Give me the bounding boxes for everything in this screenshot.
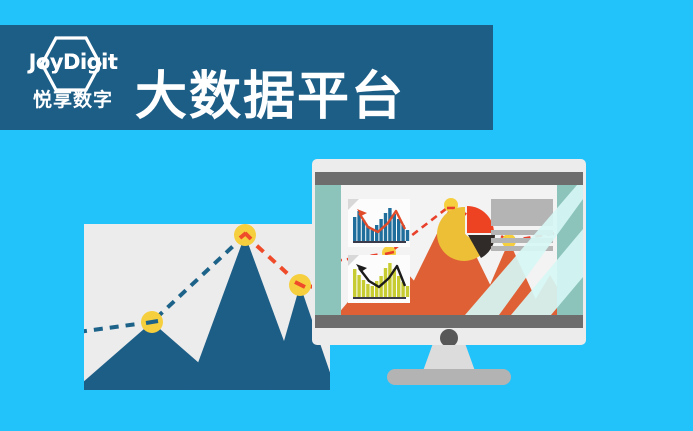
monitor-screen[interactable] xyxy=(315,185,583,315)
screen-content-area xyxy=(341,185,557,315)
olive-bar-chart xyxy=(348,255,410,303)
screen-side-band-left xyxy=(315,185,341,315)
header-banner: JoyDigit 悦享数字 大数据平台 xyxy=(0,25,493,130)
monitor-stand-base xyxy=(387,369,511,385)
blue-bar-card[interactable] xyxy=(348,199,410,247)
document-row xyxy=(491,238,553,243)
poster-canvas: JoyDigit 悦享数字 大数据平台 xyxy=(0,0,693,431)
monitor-stand-neck xyxy=(423,345,475,371)
trend-dash-over-marker xyxy=(146,321,158,323)
pie-slice-red xyxy=(467,206,494,233)
document-row xyxy=(491,246,553,251)
blue-mountain-chart xyxy=(84,224,330,390)
brand-subtitle: 悦享数字 xyxy=(14,85,132,112)
document-header-block xyxy=(491,199,553,226)
trend-arrow-icon xyxy=(356,264,367,272)
brand-logo[interactable]: JoyDigit 悦享数字 xyxy=(14,33,132,123)
blue-bar-chart xyxy=(348,199,410,247)
page-title: 大数据平台 xyxy=(135,71,405,123)
monitor-top-bar xyxy=(315,172,583,185)
monitor-bottom-bar xyxy=(315,315,583,328)
document-row xyxy=(491,230,553,235)
screen-side-band-right xyxy=(557,185,583,315)
mountain-trend-panel xyxy=(84,224,330,390)
monitor-power-button[interactable] xyxy=(440,329,458,347)
desktop-monitor xyxy=(312,159,586,374)
brand-wordmark: JoyDigit xyxy=(14,50,132,74)
gray-document-block[interactable] xyxy=(491,199,553,249)
chart-baseline-axis xyxy=(353,241,406,243)
chart-baseline-axis xyxy=(353,297,406,299)
olive-bar-card[interactable] xyxy=(348,255,410,303)
